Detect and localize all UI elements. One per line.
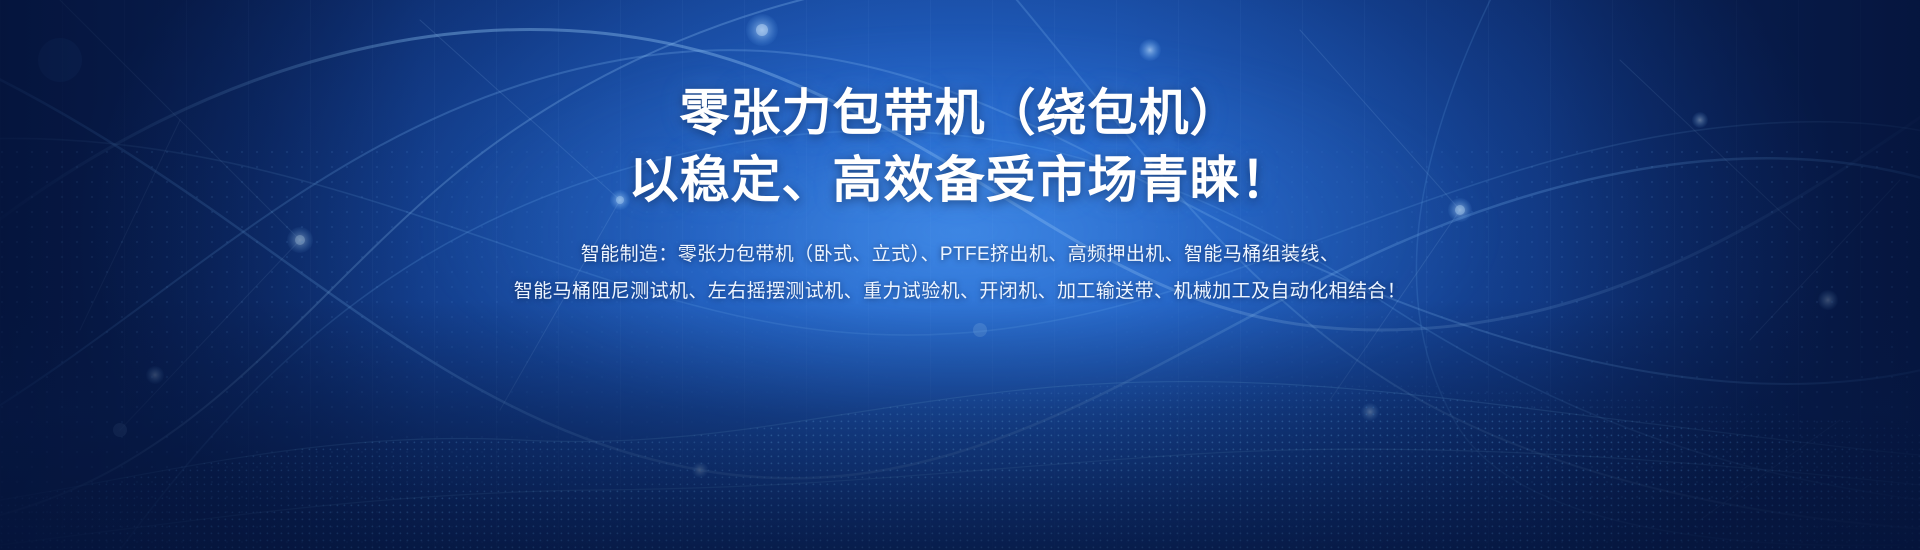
background-bottom-shade bbox=[0, 300, 1920, 550]
banner-subtitle-line-1: 智能制造：零张力包带机（卧式、立式）、PTFE挤出机、高频押出机、智能马桶组装线… bbox=[0, 236, 1920, 273]
banner-title-line-2: 以稳定、高效备受市场青睐！ bbox=[0, 151, 1920, 210]
banner-subtitle-line-2: 智能马桶阻尼测试机、左右摇摆测试机、重力试验机、开闭机、加工输送带、机械加工及自… bbox=[0, 273, 1920, 310]
banner-content: 零张力包带机（绕包机） 以稳定、高效备受市场青睐！ 智能制造：零张力包带机（卧式… bbox=[0, 84, 1920, 310]
banner-title-line-1: 零张力包带机（绕包机） bbox=[0, 84, 1920, 143]
banner-subtitle: 智能制造：零张力包带机（卧式、立式）、PTFE挤出机、高频押出机、智能马桶组装线… bbox=[0, 236, 1920, 310]
hero-banner: 零张力包带机（绕包机） 以稳定、高效备受市场青睐！ 智能制造：零张力包带机（卧式… bbox=[0, 0, 1920, 550]
